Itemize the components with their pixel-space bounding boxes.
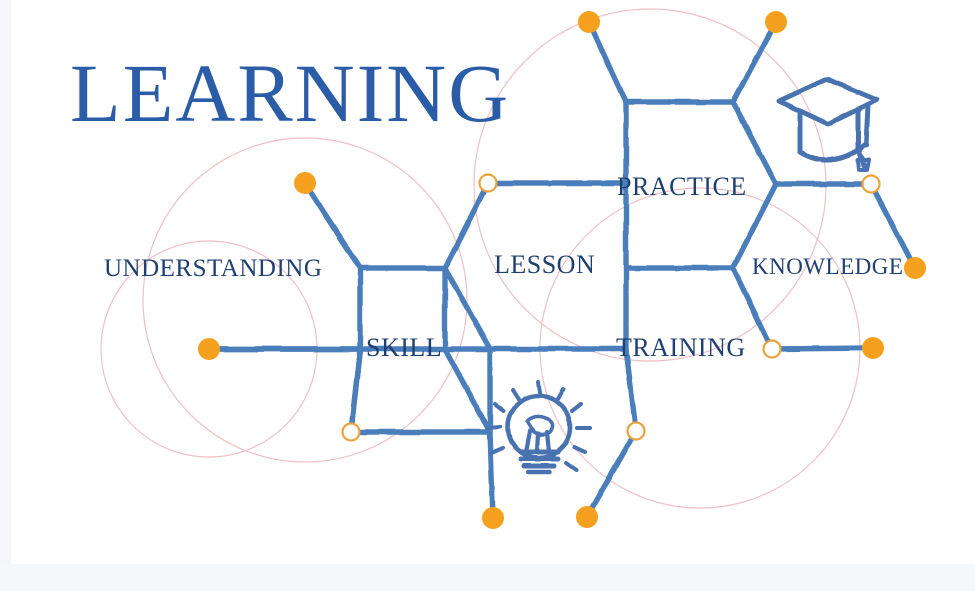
hex-edge (772, 348, 873, 349)
node-dot[interactable] (294, 172, 316, 194)
hex-label-understanding: UNDERSTANDING (104, 255, 322, 283)
hex-label-practice: PRACTICE (617, 172, 747, 202)
light-bulb-icon (487, 382, 590, 472)
node-ring[interactable] (764, 341, 781, 358)
hex-label-skill: SKILL (366, 333, 442, 363)
node-dot[interactable] (576, 506, 598, 528)
hex-edge (445, 268, 490, 349)
node-ring[interactable] (480, 175, 497, 192)
hex-label-knowledge: KNOWLEDGE (752, 254, 903, 280)
node-dot[interactable] (578, 11, 600, 33)
node-dot[interactable] (904, 257, 926, 279)
infographic-stage: LEARNING UNDERSTANDING LESSON PRACTICE K… (0, 0, 975, 591)
hex-label-lesson: LESSON (494, 250, 595, 280)
hex-edge (490, 432, 493, 518)
node-dot[interactable] (198, 338, 220, 360)
node-stem (589, 22, 626, 102)
hex-edge (587, 431, 636, 517)
hex-label-training: TRAINING (616, 333, 746, 363)
node-dot[interactable] (862, 337, 884, 359)
node-ring[interactable] (343, 424, 360, 441)
node-dot[interactable] (482, 507, 504, 529)
node-ring[interactable] (863, 176, 880, 193)
node-dot[interactable] (765, 11, 787, 33)
node-stem (351, 349, 360, 432)
node-ring[interactable] (628, 423, 645, 440)
graduation-cap-icon (779, 79, 877, 170)
hex-edge (445, 183, 488, 268)
hex-edge (445, 349, 490, 432)
page-title: LEARNING (70, 52, 510, 135)
